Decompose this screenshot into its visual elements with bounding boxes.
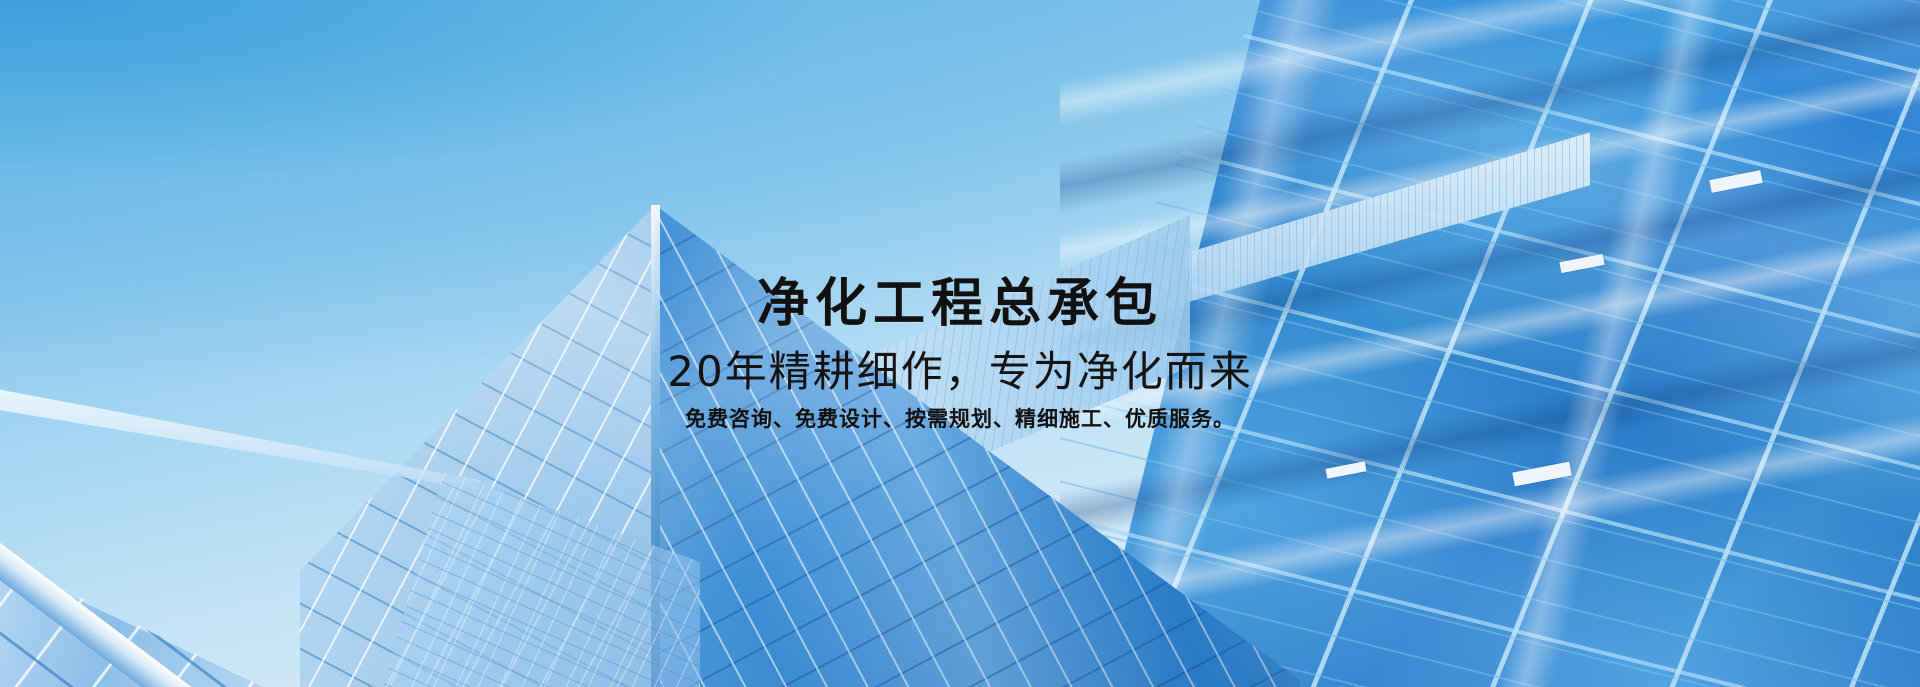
hero-banner: 净化工程总承包 20年精耕细作，专为净化而来 免费咨询、免费设计、按需规划、精细… — [0, 0, 1920, 687]
